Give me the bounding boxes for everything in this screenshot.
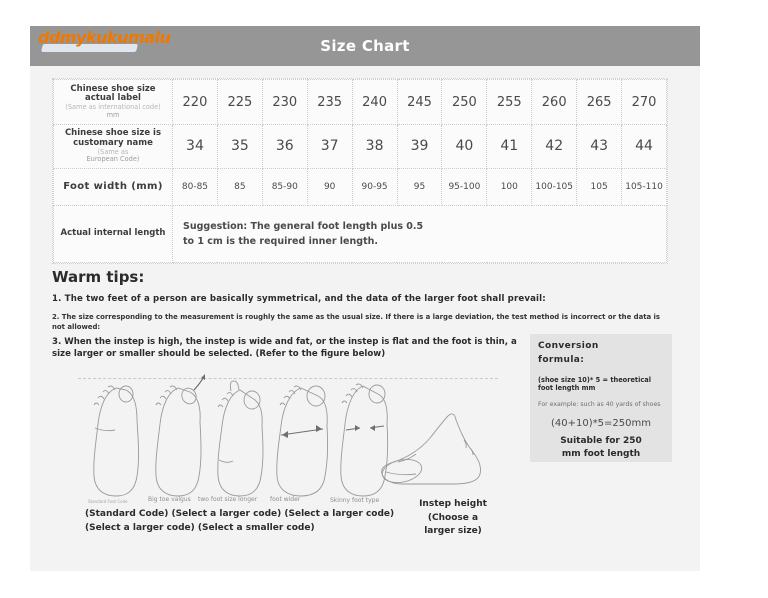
formula-title-line-1: Conversion [538, 341, 599, 351]
warm-tip-3: 3. When the instep is high, the instep i… [52, 336, 522, 361]
formula-result-line-2: mm foot length [562, 449, 640, 459]
table-cell: 34 [173, 125, 218, 169]
instep-caption-line-3: larger size) [424, 526, 482, 536]
table-cell: 43 [577, 125, 622, 169]
instep-caption-line-2: (Choose a [428, 513, 478, 523]
instep-height-caption: Instep height (Choose a larger size) [408, 498, 498, 539]
table-cell: 36 [262, 125, 307, 169]
table-row: Actual internal length Suggestion: The g… [54, 205, 667, 262]
table-cell: 95-100 [442, 168, 487, 205]
header-bar: Size Chart ddmykukumalu [30, 26, 700, 66]
diagram-caption-line-1: (Standard Code) (Select a larger code) (… [85, 509, 394, 519]
table-cell: 38 [352, 125, 397, 169]
table-row: Chinese shoe size actual label (Same as … [54, 80, 667, 125]
table-cell: 85-90 [262, 168, 307, 205]
table-cell: 270 [622, 80, 667, 125]
table-cell: 90 [307, 168, 352, 205]
table-cell: 240 [352, 80, 397, 125]
caption-skinny-foot-type: Skinny foot type [330, 497, 379, 504]
table-cell: 105 [577, 168, 622, 205]
foot-long-second-toe-icon [218, 381, 263, 496]
table-cell: 42 [532, 125, 577, 169]
table-cell: 40 [442, 125, 487, 169]
foot-instep-side-icon [380, 414, 480, 486]
row-label-main: Actual internal length [57, 229, 169, 239]
table-cell: 100-105 [532, 168, 577, 205]
table-row: Foot width (mm) 80-85 85 85-90 90 90-95 … [54, 168, 667, 205]
row-label-customary-name: Chinese shoe size is customary name (Sam… [54, 125, 173, 169]
conversion-formula-expression: (shoe size 10)* 5 = theoretical foot len… [538, 376, 664, 392]
size-chart-table-wrapper: Chinese shoe size actual label (Same as … [52, 78, 668, 264]
conversion-formula-calculation: (40+10)*5=250mm [538, 418, 664, 429]
warm-tip-2: 2. The size corresponding to the measure… [52, 312, 672, 333]
foot-outlines-svg [82, 372, 502, 500]
suggestion-cell: Suggestion: The general foot length plus… [173, 205, 667, 262]
row-label-sub2: European Code) [57, 156, 169, 164]
table-cell: 95 [397, 168, 442, 205]
warm-tips-heading: Warm tips: [52, 268, 144, 286]
warm-tip-3-line-2: size larger or smaller should be selecte… [52, 349, 385, 359]
table-cell: 90-95 [352, 168, 397, 205]
table-cell: 255 [487, 80, 532, 125]
table-cell: 225 [217, 80, 262, 125]
row-label-unit: mm [57, 112, 169, 120]
caption-standard-foot-code: Standard Foot Code [88, 499, 128, 504]
table-cell: 85 [217, 168, 262, 205]
warm-tip-1: 1. The two feet of a person are basicall… [52, 294, 672, 304]
instep-caption-line-1: Instep height [419, 499, 487, 509]
table-row: Chinese shoe size is customary name (Sam… [54, 125, 667, 169]
conversion-formula-box: Conversion formula: (shoe size 10)* 5 = … [530, 334, 672, 462]
table-cell: 41 [487, 125, 532, 169]
formula-title-line-2: formula: [538, 355, 584, 365]
table-cell: 44 [622, 125, 667, 169]
size-chart-table: Chinese shoe size actual label (Same as … [53, 79, 667, 263]
table-cell: 245 [397, 80, 442, 125]
row-label-foot-width: Foot width (mm) [54, 168, 173, 205]
table-cell: 260 [532, 80, 577, 125]
row-label-main: Foot width (mm) [57, 181, 169, 193]
conversion-formula-result: Suitable for 250 mm foot length [538, 435, 664, 461]
warm-tip-3-line-1: 3. When the instep is high, the instep i… [52, 337, 517, 347]
table-cell: 100 [487, 168, 532, 205]
caption-foot-wider: foot wider [270, 496, 300, 503]
caption-two-foot-size-longer: two foot size longer [198, 496, 257, 503]
table-cell: 230 [262, 80, 307, 125]
conversion-formula-example-label: For example: such as 40 yards of shoes [538, 401, 664, 408]
formula-result-line-1: Suitable for 250 [560, 436, 642, 446]
foot-standard-icon [94, 386, 139, 496]
caption-big-toe-valgus: Big toe valgus [148, 496, 191, 503]
diagram-caption-line-2: (Select a larger code) (Select a smaller… [85, 523, 315, 533]
table-cell: 39 [397, 125, 442, 169]
foot-skinny-icon [341, 384, 388, 496]
table-cell: 265 [577, 80, 622, 125]
diagram-caption-bold: (Standard Code) (Select a larger code) (… [85, 508, 405, 535]
row-label-main: Chinese shoe size is customary name [57, 129, 169, 149]
table-cell: 35 [217, 125, 262, 169]
suggestion-line-2: to 1 cm is the required inner length. [183, 236, 378, 247]
table-cell: 37 [307, 125, 352, 169]
foot-wide-icon [277, 386, 328, 496]
row-label-main: Chinese shoe size actual label [57, 85, 169, 105]
table-cell: 235 [307, 80, 352, 125]
suggestion-line-1: Suggestion: The general foot length plus… [183, 221, 423, 232]
table-cell: 220 [173, 80, 218, 125]
foot-types-illustration [82, 372, 502, 500]
table-cell: 80-85 [173, 168, 218, 205]
size-chart-page: Size Chart ddmykukumalu Chinese shoe siz… [0, 0, 768, 598]
row-label-actual-label: Chinese shoe size actual label (Same as … [54, 80, 173, 125]
table-cell: 105-110 [622, 168, 667, 205]
conversion-formula-title: Conversion formula: [538, 340, 664, 367]
brand-logo: ddmykukumalu [38, 28, 170, 47]
row-label-internal-length: Actual internal length [54, 205, 173, 262]
foot-bunion-icon [156, 374, 205, 496]
table-cell: 250 [442, 80, 487, 125]
